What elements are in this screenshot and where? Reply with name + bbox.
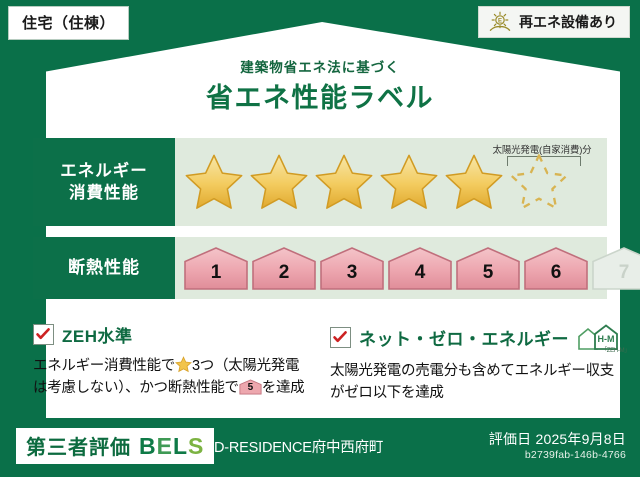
inline-insulation-badge: 5 [239, 379, 262, 395]
zeh-header: ZEH水準 [33, 322, 313, 347]
star-filled [183, 152, 245, 212]
property-name: D-RESIDENCE府中西府町 [214, 436, 383, 457]
bels-jp-label: 第三者評価 [26, 431, 131, 460]
zeh-standard-feature: ZEH水準 エネルギー消費性能で 3つ（太陽光発電は考慮しない）、かつ断熱性能で… [33, 322, 313, 400]
label-title: 省エネ性能ラベル [0, 76, 640, 115]
building-type-badge: 住宅（住棟） [8, 6, 129, 40]
insulation-performance-label-cell: 断熱性能 [33, 237, 175, 299]
star-filled [443, 152, 505, 212]
svg-text:E: E [498, 19, 502, 25]
star-filled [248, 152, 310, 212]
insulation-level-value: 7 [619, 262, 630, 284]
energy-star-rating [175, 138, 607, 226]
insulation-level-badge: 4 [387, 246, 453, 290]
evaluation-id: b2739fab-146b-4766 [525, 449, 626, 461]
net-zero-description: 太陽光発電の売電分も含めてエネルギー収支がゼロ以下を達成 [330, 360, 615, 405]
evaluation-date: 評価日 2025年9月8日 [489, 429, 626, 449]
net-zero-title: ネット・ゼロ・エネルギー [359, 325, 569, 350]
renewable-equipment-label: 再エネ設備あり [519, 12, 617, 32]
insulation-level-value: 1 [211, 262, 222, 284]
star-outline [508, 152, 570, 212]
insulation-level-value: 3 [347, 262, 358, 284]
insulation-level-badge: 1 [183, 246, 249, 290]
energy-performance-label: 住宅（住棟） E 再エネ設備あり 建築物省エネ法に基づく 省エネ性能ラベル エネ… [0, 0, 640, 477]
energy-rating-area: 太陽光発電(自家消費)分 [175, 138, 607, 226]
insulation-level-badge: 6 [523, 246, 589, 290]
insulation-level-badges: 1234567 [175, 237, 607, 299]
insulation-level-badge: 5 [455, 246, 521, 290]
zeh-m-logo-icon: H-M 「ZEH-M」 [573, 322, 627, 352]
label-footer: 第三者評価 BELS D-RESIDENCE府中西府町 評価日 2025年9月8… [0, 418, 640, 477]
inline-star-icon [175, 356, 192, 373]
renewable-equipment-badge: E 再エネ設備あり [478, 6, 630, 38]
net-zero-header: ネット・ゼロ・エネルギー H-M 「ZEH-M」 [330, 322, 615, 352]
bels-en-label: BELS [139, 433, 204, 460]
zeh-text-3: を達成 [262, 380, 305, 396]
insulation-rating-area: 1234567 [175, 237, 607, 299]
energy-performance-row: エネルギー 消費性能 太陽光発電(自家消費)分 [33, 138, 607, 226]
net-zero-energy-feature: ネット・ゼロ・エネルギー H-M 「ZEH-M」 太陽光発電の売電分も含めてエネ… [330, 322, 615, 405]
inline-badge-value: 5 [239, 380, 262, 396]
insulation-performance-row: 断熱性能 1234567 [33, 237, 607, 299]
insulation-level-value: 5 [483, 262, 494, 284]
insulation-level-badge: 2 [251, 246, 317, 290]
zeh-description: エネルギー消費性能で 3つ（太陽光発電は考慮しない）、かつ断熱性能で 5 を達成 [33, 355, 313, 400]
star-filled [378, 152, 440, 212]
insulation-level-value: 6 [551, 262, 562, 284]
zeh-text-1: エネルギー消費性能で [33, 358, 175, 374]
building-type-label: 住宅（住棟） [22, 15, 115, 32]
label-subtitle: 建築物省エネ法に基づく [0, 56, 640, 76]
zeh-title: ZEH水準 [62, 322, 133, 347]
star-filled [313, 152, 375, 212]
insulation-level-value: 2 [279, 262, 290, 284]
insulation-level-badge: 7 [591, 246, 640, 290]
energy-performance-label-cell: エネルギー 消費性能 [33, 138, 175, 226]
solar-sun-icon: E [487, 11, 513, 33]
zeh-m-logo-caption: 「ZEH-M」 [601, 345, 630, 354]
bels-certification-mark: 第三者評価 BELS [16, 428, 214, 464]
net-zero-check-icon [330, 327, 351, 348]
energy-label-line1: エネルギー [60, 160, 148, 182]
badge-house-shape [591, 246, 640, 290]
svg-text:H-M: H-M [598, 334, 615, 344]
insulation-label: 断熱性能 [68, 257, 140, 280]
energy-label-line2: 消費性能 [69, 182, 139, 204]
insulation-level-badge: 3 [319, 246, 385, 290]
zeh-check-icon [33, 324, 54, 345]
insulation-level-value: 4 [415, 262, 426, 284]
